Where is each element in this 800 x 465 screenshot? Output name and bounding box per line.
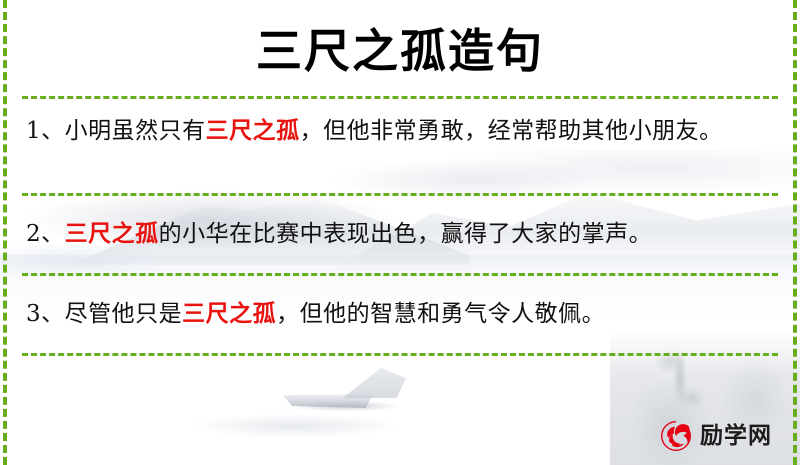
sentence-item-2: 2、三尺之孤的小华在比赛中表现出色，赢得了大家的掌声。 [22, 196, 778, 273]
sentence-1-text-after: ，但他非常勇敢，经常帮助其他小朋友。 [300, 118, 723, 144]
sentence-3-keyword: 三尺之孤 [182, 300, 276, 327]
sentence-item-1: 1、小明虽然只有三尺之孤，但他非常勇敢，经常帮助其他小朋友。 [22, 99, 778, 193]
sentence-list: 1、小明虽然只有三尺之孤，但他非常勇敢，经常帮助其他小朋友。 2、三尺之孤的小华… [22, 99, 778, 356]
red-swirl-bird-icon [659, 419, 693, 453]
sentence-2-number: 2、 [26, 221, 65, 247]
content-area: 三尺之孤造句 1、小明虽然只有三尺之孤，但他非常勇敢，经常帮助其他小朋友。 2、… [0, 0, 800, 465]
page-title: 三尺之孤造句 [22, 0, 778, 78]
site-logo[interactable]: 励学网 [659, 419, 772, 453]
sentence-2-text-after: 的小华在比赛中表现出色，赢得了大家的掌声。 [159, 221, 653, 247]
sentence-1-text-before: 小明虽然只有 [65, 118, 206, 144]
sentence-3-text-after: ，但他的智慧和勇气令人敬佩。 [276, 301, 605, 327]
site-logo-text: 励学网 [700, 425, 772, 448]
sentence-1-keyword: 三尺之孤 [206, 117, 300, 144]
divider-after-sentence-3 [22, 353, 778, 356]
worksheet-page: 三尺之孤造句 1、小明虽然只有三尺之孤，但他非常勇敢，经常帮助其他小朋友。 2、… [0, 0, 800, 465]
sentence-3-number: 3、 [26, 301, 65, 327]
sentence-item-3: 3、尽管他只是三尺之孤，但他的智慧和勇气令人敬佩。 [22, 276, 778, 353]
sentence-1-number: 1、 [26, 118, 65, 144]
sentence-2-keyword: 三尺之孤 [65, 220, 159, 247]
sentence-3-text-before: 尽管他只是 [65, 301, 183, 327]
